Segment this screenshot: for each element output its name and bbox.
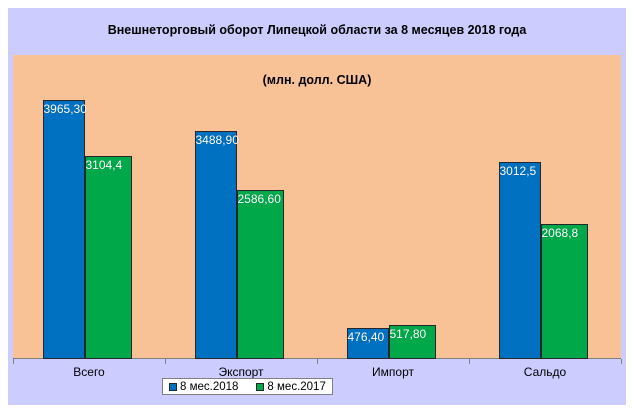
legend-swatch-2018 [169,383,177,391]
legend-label-2017: 8 мес.2017 [267,381,325,393]
legend-swatch-2017 [256,383,264,391]
category-label-Импорт: Импорт [317,365,469,379]
chart-title: Внешнеторговый оборот Липецкой области з… [8,22,626,39]
bar-Экспорт-8 мес.2017[interactable] [237,190,284,359]
bar-Всего-8 мес.2018[interactable] [43,100,85,359]
bar-Сальдо-8 мес.2017[interactable] [541,224,588,359]
legend-label-2018: 8 мес.2018 [180,381,238,393]
chart-container: Внешнеторговый оборот Липецкой области з… [8,8,626,405]
bar-value-label: 3104,4 [86,158,123,172]
axis-tick [165,359,166,364]
axis-tick [469,359,470,364]
axis-tick [621,359,622,364]
bar-value-label: 517,80 [390,327,427,341]
bar-Сальдо-8 мес.2018[interactable] [499,162,541,359]
bar-value-label: 3965,30 [44,102,87,116]
bar-Всего-8 мес.2017[interactable] [85,156,132,359]
chart-subtitle: (млн. долл. США) [8,72,626,89]
axis-tick [317,359,318,364]
legend-item-2018[interactable]: 8 мес.2018 [169,381,238,393]
bar-value-label: 476,40 [348,330,385,344]
chart-legend: 8 мес.2018 8 мес.2017 [162,378,333,395]
bar-value-label: 2586,60 [238,192,281,206]
category-label-Всего: Всего [13,365,165,379]
axis-tick [13,359,14,364]
bar-value-label: 3012,5 [500,164,537,178]
bar-value-label: 3488,90 [196,133,239,147]
bar-value-label: 2068,8 [542,226,579,240]
legend-item-2017[interactable]: 8 мес.2017 [256,381,325,393]
category-label-Сальдо: Сальдо [469,365,621,379]
category-label-Экспорт: Экспорт [165,365,317,379]
bar-Экспорт-8 мес.2018[interactable] [195,131,237,359]
